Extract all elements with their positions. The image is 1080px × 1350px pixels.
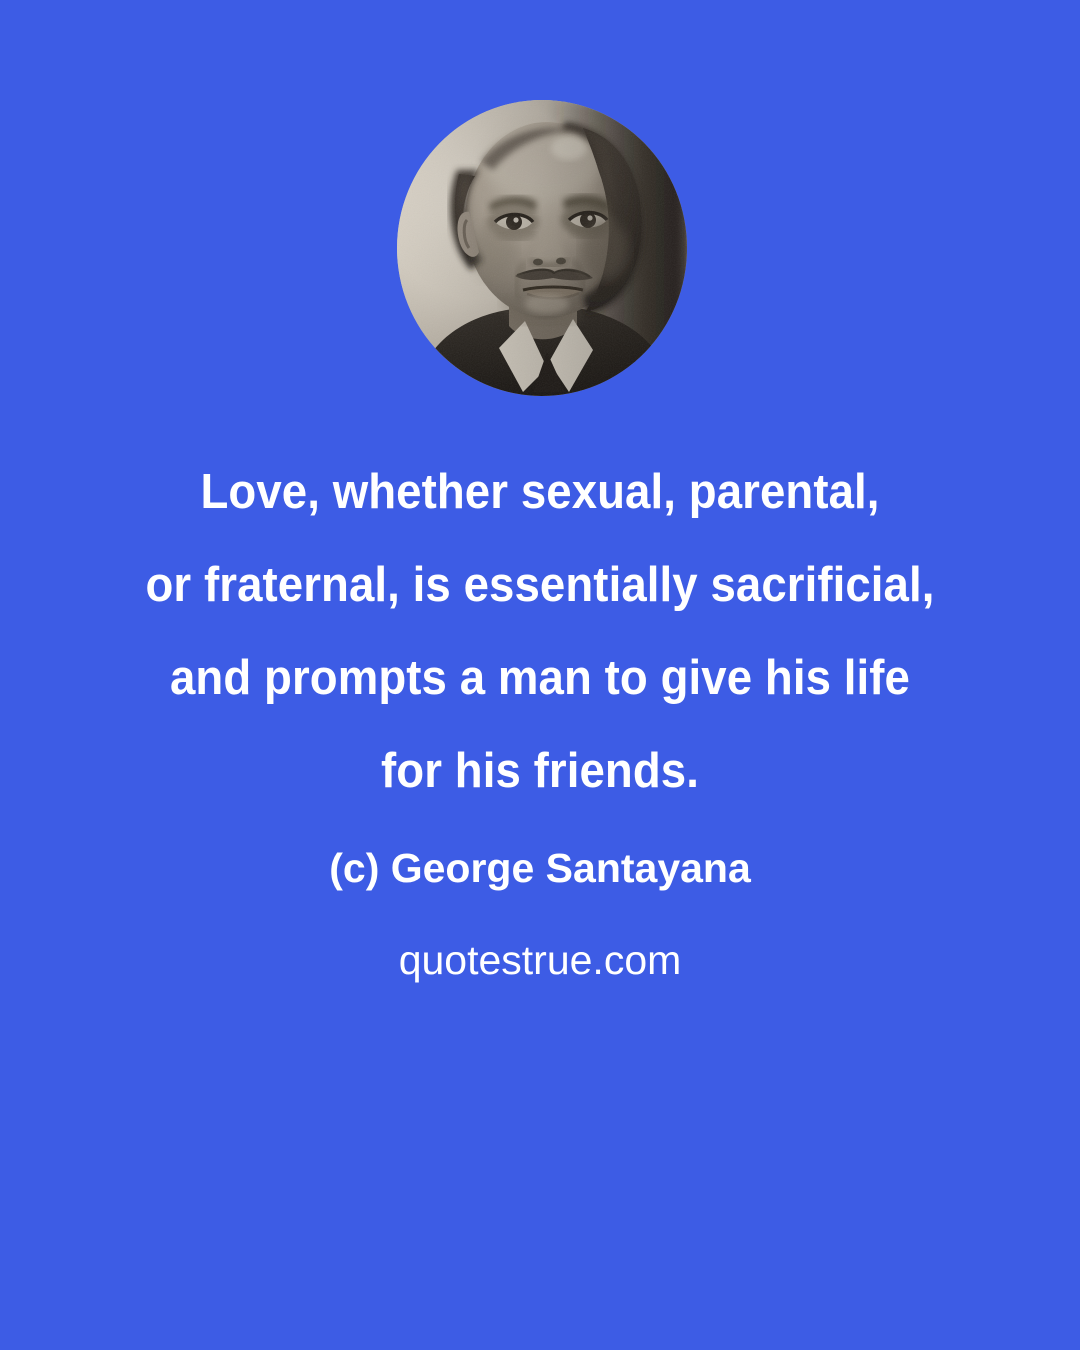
portrait-illustration: [397, 100, 687, 396]
author-attribution: (c) George Santayana: [0, 842, 1080, 894]
quote-line: or fraternal, is essentially sacrificial…: [38, 539, 1042, 632]
quote-line: and prompts a man to give his life: [38, 632, 1042, 725]
quote-text: Love, whether sexual, parental, or frate…: [0, 446, 1080, 818]
quote-card: Love, whether sexual, parental, or frate…: [0, 0, 1080, 1350]
quote-line: Love, whether sexual, parental,: [38, 446, 1042, 539]
site-url[interactable]: quotestrue.com: [0, 934, 1080, 986]
author-portrait: [397, 100, 687, 396]
quote-line: for his friends.: [38, 725, 1042, 818]
